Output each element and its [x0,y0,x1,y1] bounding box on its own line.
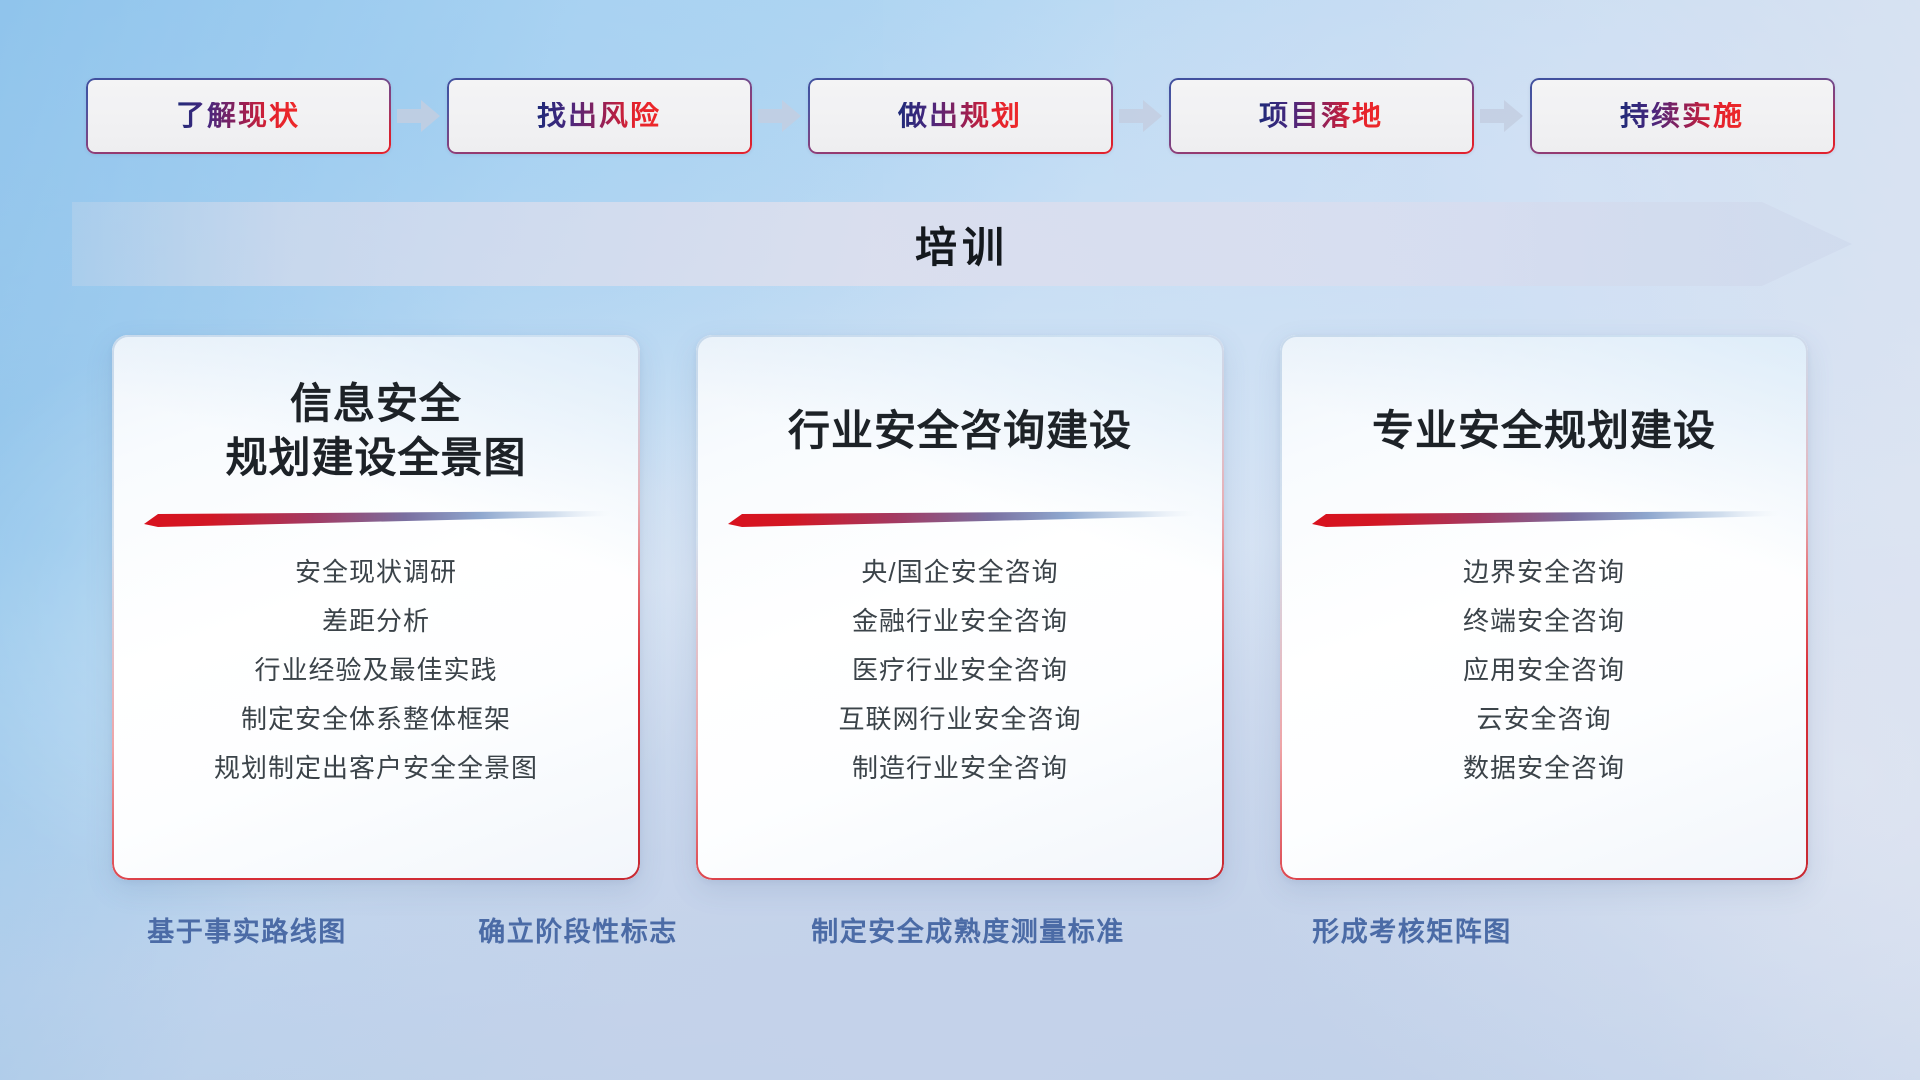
step-label: 项目落地 [1259,102,1383,131]
list-item[interactable]: 规划制定出客户安全全景图 [214,749,538,788]
process-step-row: 了解现状 找出风险 做出规划 项目落地 持续实施 [0,72,1920,160]
list-item[interactable]: 互联网行业安全咨询 [838,700,1081,739]
arrow-right-icon [758,99,802,133]
step-label: 找出风险 [537,102,661,131]
step-arrow-1 [391,99,447,133]
card-title: 行业安全咨询建设 [726,361,1194,501]
card-title-line: 行业安全咨询建设 [726,404,1194,458]
footer-label-2: 确立阶段性标志 [478,910,678,949]
step-box-4[interactable]: 项目落地 [1169,78,1474,154]
list-item[interactable]: 终端安全咨询 [1463,602,1625,641]
gradient-divider-icon [726,507,1194,529]
card-content: 专业安全规划建设 边界安全咨询终端安全咨询应用安全咨询云安全咨询数据安全咨询 [1280,335,1808,880]
list-item[interactable]: 制造行业安全咨询 [852,749,1068,788]
list-item[interactable]: 差距分析 [322,602,430,641]
step-box-3[interactable]: 做出规划 [808,78,1113,154]
list-item[interactable]: 边界安全咨询 [1463,553,1625,592]
gradient-divider-icon [1310,507,1778,529]
footer-label-row: 基于事实路线图确立阶段性标志制定安全成熟度测量标准形成考核矩阵图 [0,910,1920,980]
card-title-line: 专业安全规划建设 [1310,404,1778,458]
step-label: 持续实施 [1620,102,1744,131]
card-item-list: 边界安全咨询终端安全咨询应用安全咨询云安全咨询数据安全咨询 [1310,543,1778,788]
arrow-right-icon [1119,99,1163,133]
training-band: 培训 [72,196,1852,292]
card-item-list: 央/国企安全咨询金融行业安全咨询医疗行业安全咨询互联网行业安全咨询制造行业安全咨… [726,543,1194,788]
gradient-divider-icon [142,507,610,529]
step-label: 做出规划 [898,102,1022,131]
card-title-line: 信息安全 [142,377,610,431]
arrow-right-icon [397,99,441,133]
card-item-list: 安全现状调研差距分析行业经验及最佳实践制定安全体系整体框架规划制定出客户安全全景… [142,543,610,788]
step-label: 了解现状 [176,102,300,131]
list-item[interactable]: 金融行业安全咨询 [852,602,1068,641]
band-label: 培训 [72,196,1852,292]
list-item[interactable]: 数据安全咨询 [1463,749,1625,788]
card-title: 专业安全规划建设 [1310,361,1778,501]
list-item[interactable]: 安全现状调研 [295,553,457,592]
list-item[interactable]: 制定安全体系整体框架 [241,700,511,739]
step-arrow-3 [1113,99,1169,133]
card-title-line: 规划建设全景图 [142,431,610,485]
step-box-5[interactable]: 持续实施 [1530,78,1835,154]
card-content: 行业安全咨询建设 央/国企安全咨询金融行业安全咨询医疗行业安全咨询互联网行业安全… [696,335,1224,880]
step-box-2[interactable]: 找出风险 [447,78,752,154]
list-item[interactable]: 行业经验及最佳实践 [254,651,497,690]
card-1[interactable]: 信息安全规划建设全景图 安全现状调研差距分析行业经验及最佳实践制定安全体系整体框… [112,335,640,880]
arrow-right-icon [1480,99,1524,133]
list-item[interactable]: 医疗行业安全咨询 [852,651,1068,690]
footer-label-1: 基于事实路线图 [147,910,347,949]
step-arrow-4 [1474,99,1530,133]
card-row: 信息安全规划建设全景图 安全现状调研差距分析行业经验及最佳实践制定安全体系整体框… [0,335,1920,880]
step-box-1[interactable]: 了解现状 [86,78,391,154]
card-2[interactable]: 行业安全咨询建设 央/国企安全咨询金融行业安全咨询医疗行业安全咨询互联网行业安全… [696,335,1224,880]
list-item[interactable]: 央/国企安全咨询 [861,553,1058,592]
list-item[interactable]: 应用安全咨询 [1463,651,1625,690]
card-content: 信息安全规划建设全景图 安全现状调研差距分析行业经验及最佳实践制定安全体系整体框… [112,335,640,880]
card-title: 信息安全规划建设全景图 [142,361,610,501]
card-3[interactable]: 专业安全规划建设 边界安全咨询终端安全咨询应用安全咨询云安全咨询数据安全咨询 [1280,335,1808,880]
footer-label-4: 形成考核矩阵图 [1312,910,1512,949]
step-arrow-2 [752,99,808,133]
list-item[interactable]: 云安全咨询 [1476,700,1611,739]
footer-label-3: 制定安全成熟度测量标准 [811,910,1125,949]
